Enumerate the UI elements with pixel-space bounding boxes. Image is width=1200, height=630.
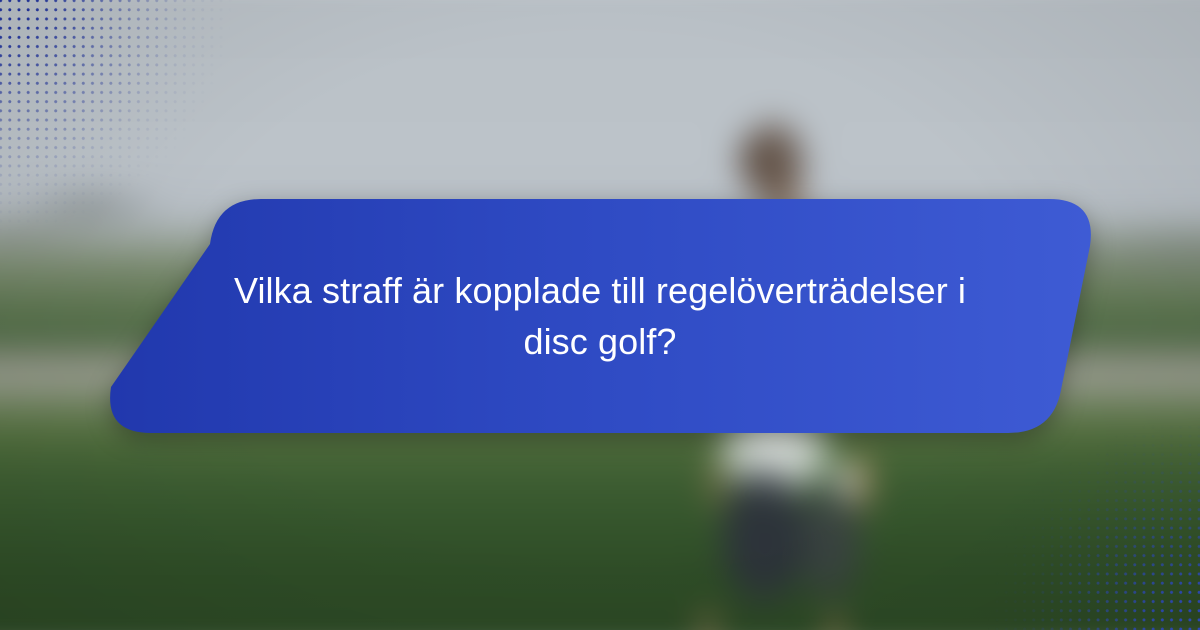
headline-container: Vilka straff är kopplade till regelövert…	[98, 196, 1102, 436]
headline-card: Vilka straff är kopplade till regelövert…	[98, 196, 1102, 436]
banner-image: Vilka straff är kopplade till regelövert…	[0, 0, 1200, 630]
headline-text: Vilka straff är kopplade till regelövert…	[205, 265, 995, 367]
dot-grid-pattern-bottom-right	[974, 404, 1200, 630]
